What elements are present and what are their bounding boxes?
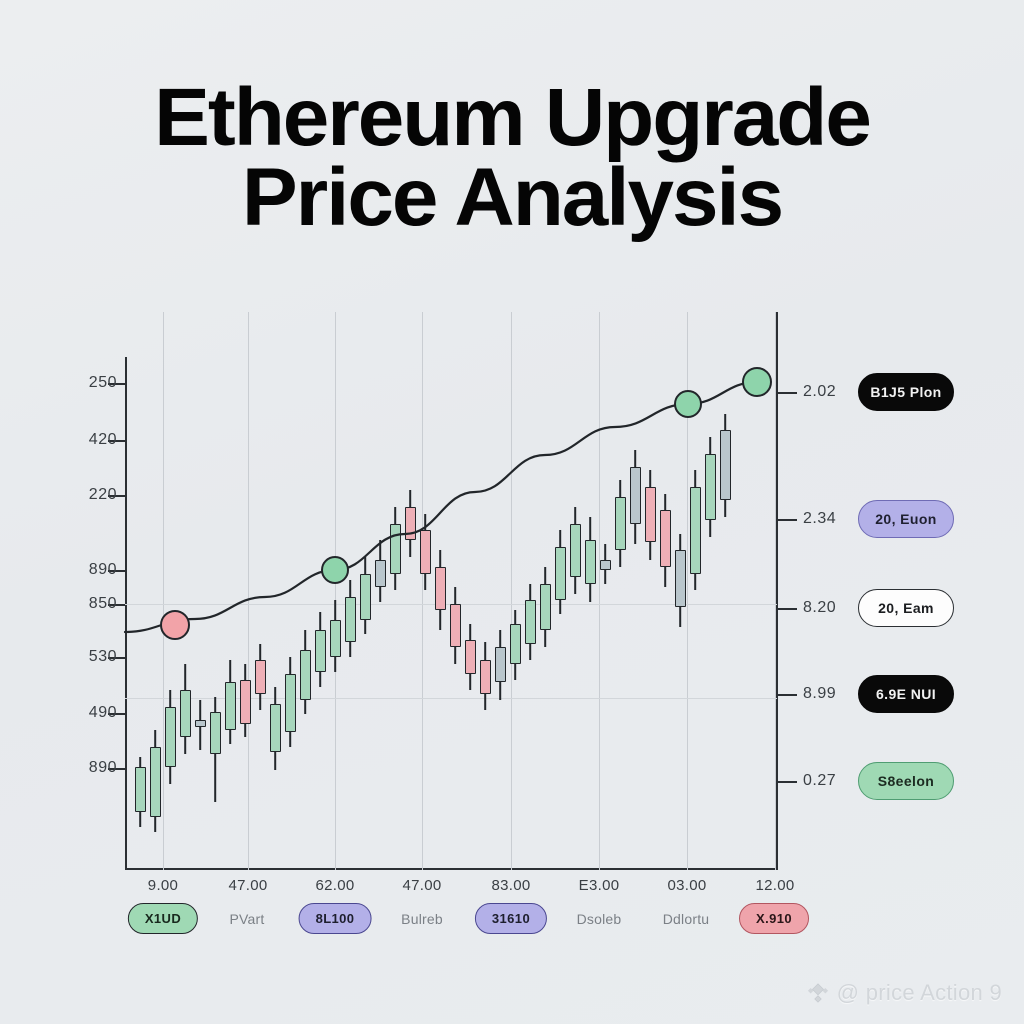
- y-tick-label-right: 8.99: [803, 685, 836, 703]
- category-label: Dsoleb: [561, 903, 638, 934]
- y-tick-label-right: 8.20: [803, 599, 836, 617]
- category-label: Bulreb: [385, 903, 459, 934]
- title-line-2: Price Analysis: [0, 158, 1024, 238]
- x-tick-label: 83.00: [491, 877, 530, 894]
- category-pill[interactable]: 31610: [475, 903, 547, 934]
- category-label: PVart: [214, 903, 281, 934]
- category-pill[interactable]: X1UD: [128, 903, 198, 934]
- trend-marker-pink[interactable]: [160, 610, 190, 640]
- trend-marker-green[interactable]: [742, 367, 772, 397]
- y-tick-label-left: 530: [89, 648, 117, 666]
- y-tick-label-right: 0.27: [803, 772, 836, 790]
- y-tick-label-left: 850: [89, 595, 117, 613]
- y-tick-label-left: 420: [89, 431, 117, 449]
- x-tick-label: 12.00: [755, 877, 794, 894]
- page-title: Ethereum Upgrade Price Analysis: [0, 78, 1024, 239]
- y-tick-label-right: 2.34: [803, 510, 836, 528]
- y-tick-label-right: 2.02: [803, 383, 836, 401]
- category-pill[interactable]: X.910: [739, 903, 809, 934]
- y-tick-right: [777, 608, 797, 610]
- x-tick-label: 62.00: [315, 877, 354, 894]
- legend-badge[interactable]: 6.9E NUI: [858, 675, 954, 713]
- trend-marker-green[interactable]: [321, 556, 349, 584]
- y-tick-right: [777, 392, 797, 394]
- y-tick-right: [777, 694, 797, 696]
- x-tick-label: 47.00: [402, 877, 441, 894]
- trend-marker-green[interactable]: [674, 390, 702, 418]
- x-tick-label: E3.00: [579, 877, 620, 894]
- category-pill-row: X1UDPVart8L100Bulreb31610DsolebDdlortuX.…: [125, 903, 825, 943]
- chart-page: Ethereum Upgrade Price Analysis 25042022…: [0, 0, 1024, 1024]
- legend-badge[interactable]: 20, Eam: [858, 589, 954, 627]
- y-tick-label-left: 890: [89, 561, 117, 579]
- title-line-1: Ethereum Upgrade: [0, 78, 1024, 158]
- x-tick-label: 9.00: [148, 877, 178, 894]
- watermark-text: @ price Action 9: [837, 980, 1002, 1006]
- y-tick-right: [777, 519, 797, 521]
- y-tick-label-left: 490: [89, 704, 117, 722]
- legend-badge[interactable]: 20, Euon: [858, 500, 954, 538]
- category-pill[interactable]: 8L100: [299, 903, 372, 934]
- y-tick-right: [777, 781, 797, 783]
- candlestick-plot: 250420220890850530490890 2.022.348.208.9…: [125, 312, 777, 870]
- x-tick-label: 03.00: [667, 877, 706, 894]
- x-tick-label: 47.00: [228, 877, 267, 894]
- category-label: Ddlortu: [647, 903, 726, 934]
- watermark: @ price Action 9: [807, 980, 1002, 1006]
- y-tick-label-left: 220: [89, 486, 117, 504]
- y-tick-label-left: 890: [89, 759, 117, 777]
- y-tick-label-left: 250: [89, 374, 117, 392]
- legend-badge[interactable]: B1J5 Plon: [858, 373, 954, 411]
- legend-badges: B1J5 Plon20, Euon20, Eam6.9E NUIS8eelon: [858, 312, 1008, 870]
- legend-badge[interactable]: S8eelon: [858, 762, 954, 800]
- diamond-icon: [807, 982, 829, 1004]
